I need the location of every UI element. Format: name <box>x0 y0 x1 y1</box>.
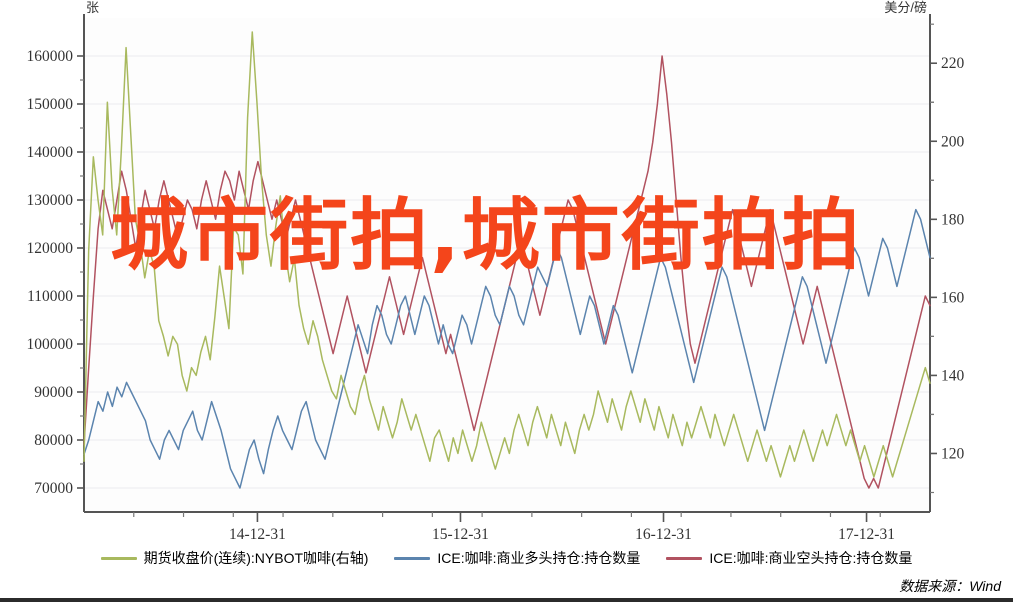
legend-item-futures-price[interactable]: 期货收盘价(连续):NYBOT咖啡(右轴) <box>101 548 369 568</box>
chart-legend: 期货收盘价(连续):NYBOT咖啡(右轴) ICE:咖啡:商业多头持仓:持仓数量… <box>0 546 1013 570</box>
right-axis-tick-label: 200 <box>941 133 965 150</box>
left-axis-tick-label: 90000 <box>34 384 73 401</box>
legend-swatch-commercial-long <box>394 557 430 560</box>
legend-label-futures-price: 期货收盘价(连续):NYBOT咖啡(右轴) <box>144 548 369 568</box>
right-axis-tick-label: 160 <box>941 289 965 306</box>
data-source: 数据来源：Wind <box>899 576 1001 596</box>
coffee-positions-line-chart: 7000080000900001000001100001200001300001… <box>0 0 1013 602</box>
bottom-rule <box>0 598 1013 602</box>
right-axis-unit-label: 美分/磅 <box>884 0 927 15</box>
left-axis-tick-label: 100000 <box>27 336 74 353</box>
x-axis-tick-label: 16-12-31 <box>635 526 692 543</box>
x-axis-tick-label: 14-12-31 <box>229 526 286 543</box>
plot-background <box>84 18 930 512</box>
left-axis-tick-label: 160000 <box>27 48 74 65</box>
right-axis-tick-label: 140 <box>941 367 965 384</box>
chart-container: 7000080000900001000001100001200001300001… <box>0 0 1013 602</box>
left-axis-tick-label: 130000 <box>27 192 74 209</box>
legend-item-commercial-short[interactable]: ICE:咖啡:商业空头持仓:持仓数量 <box>666 548 912 568</box>
right-axis-tick-label: 220 <box>941 55 965 72</box>
data-source-label: 数据来源：Wind <box>899 578 1001 594</box>
legend-label-commercial-short: ICE:咖啡:商业空头持仓:持仓数量 <box>709 548 912 568</box>
legend-swatch-futures-price <box>101 557 137 560</box>
x-axis-tick-label: 15-12-31 <box>432 526 489 543</box>
left-axis-tick-label: 70000 <box>34 480 73 497</box>
left-axis-tick-label: 110000 <box>27 288 73 305</box>
legend-item-commercial-long[interactable]: ICE:咖啡:商业多头持仓:持仓数量 <box>394 548 640 568</box>
legend-label-commercial-long: ICE:咖啡:商业多头持仓:持仓数量 <box>437 548 640 568</box>
left-axis-tick-label: 140000 <box>27 144 74 161</box>
right-axis-tick-label: 120 <box>941 445 965 462</box>
left-axis-tick-label: 150000 <box>27 96 74 113</box>
left-axis-tick-label: 80000 <box>34 432 73 449</box>
left-axis-tick-label: 120000 <box>27 240 74 257</box>
x-axis-tick-label: 17-12-31 <box>838 526 895 543</box>
left-axis-unit-label: 张 <box>86 0 99 15</box>
legend-swatch-commercial-short <box>666 557 702 560</box>
right-axis-tick-label: 180 <box>941 211 965 228</box>
